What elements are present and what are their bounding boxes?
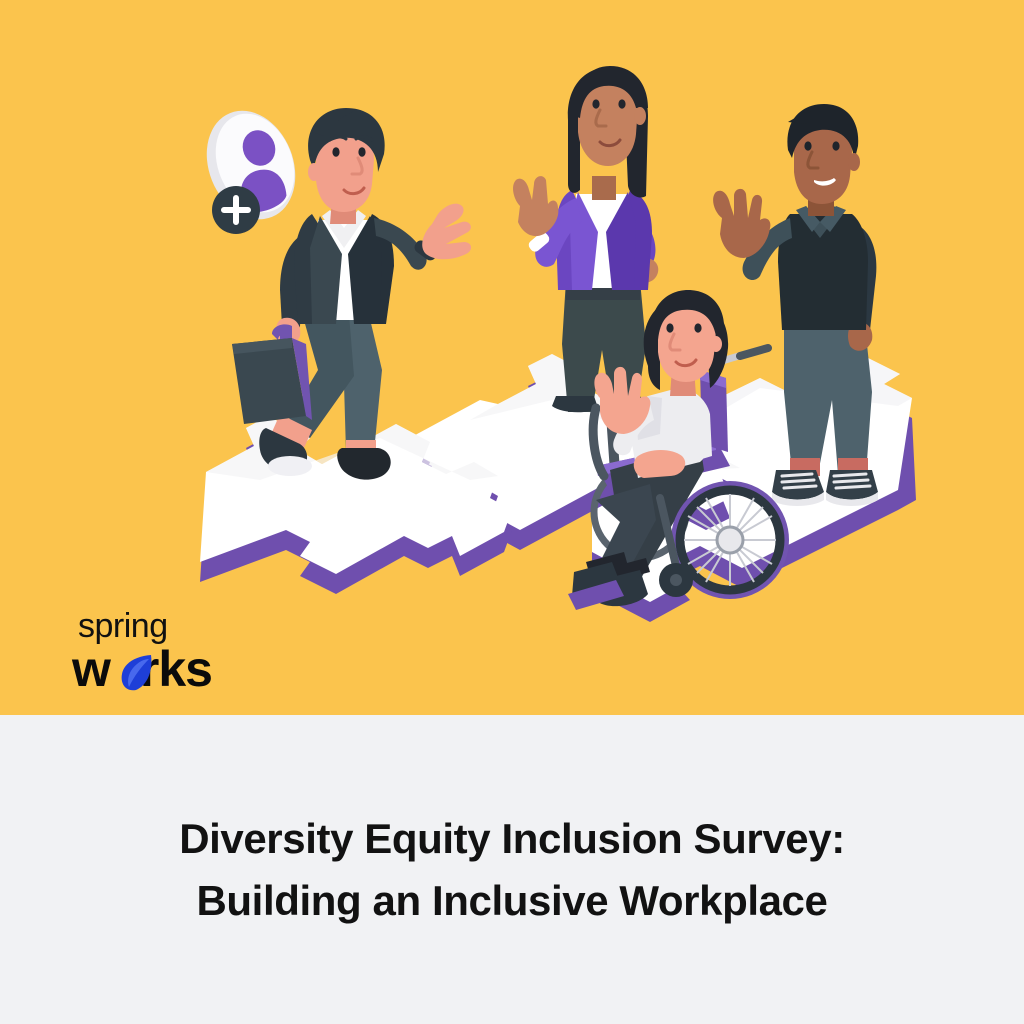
- logo-wordmark-spring: spring: [72, 608, 252, 644]
- page-title: Diversity Equity Inclusion Survey: Build…: [72, 808, 952, 932]
- leaf-icon: [120, 652, 156, 692]
- springworks-logo[interactable]: spring wrks: [72, 608, 252, 696]
- logo-wordmark-works-prefix: w: [72, 644, 110, 694]
- caption-area: Diversity Equity Inclusion Survey: Build…: [0, 715, 1024, 1024]
- sneaker-left: [772, 470, 824, 506]
- dei-survey-banner: spring wrks Diversity Equity Inclusion S…: [0, 0, 1024, 1024]
- sneaker-right: [826, 470, 878, 506]
- plus-badge-icon: [212, 186, 260, 234]
- logo-wordmark-works: wrks: [72, 644, 252, 694]
- hero-illustration-area: spring wrks: [0, 0, 1024, 715]
